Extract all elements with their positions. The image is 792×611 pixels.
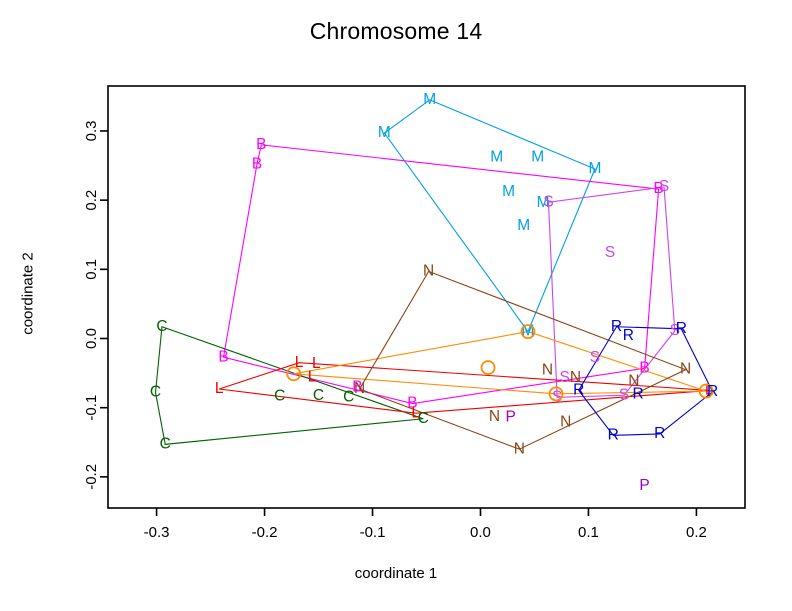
scatter-plot: -0.3-0.2-0.10.00.10.2-0.2-0.10.00.10.20.… (0, 0, 792, 611)
data-point-s: S (590, 349, 600, 366)
data-point-r: R (707, 383, 718, 400)
data-point-l: L (411, 404, 420, 421)
y-tick-label: -0.2 (83, 464, 100, 490)
data-point-n: N (423, 262, 434, 279)
x-tick-label: -0.1 (360, 524, 386, 541)
data-point-m: M (517, 217, 530, 234)
data-point-r: R (654, 425, 665, 442)
y-tick-label: 0.0 (83, 328, 100, 349)
data-point-m: M (531, 148, 544, 165)
chart-page: Chromosome 14 -0.3-0.2-0.10.00.10.2-0.2-… (0, 0, 792, 611)
x-tick-label: -0.3 (144, 524, 170, 541)
data-point-b: B (218, 348, 228, 365)
data-point-c: C (313, 387, 324, 404)
data-point-n: N (514, 440, 525, 457)
hull-m (384, 100, 595, 332)
data-point-b: B (639, 359, 649, 376)
data-point-m: M (423, 91, 436, 108)
hull-c (156, 327, 424, 445)
x-axis-label: coordinate 1 (0, 565, 792, 582)
data-point-b: B (256, 136, 266, 153)
data-point-l: L (215, 380, 224, 397)
data-point-r: R (633, 386, 644, 403)
data-point-m: M (588, 160, 601, 177)
data-point-n: N (489, 408, 500, 425)
data-point-c: C (160, 435, 171, 452)
data-point-r: R (611, 318, 622, 335)
hull-r (579, 327, 713, 436)
data-point-c: C (150, 384, 161, 401)
data-point-p: P (639, 477, 649, 494)
data-point-r: R (623, 327, 634, 344)
data-point-p: P (506, 408, 516, 425)
x-tick-label: 0.0 (470, 524, 491, 541)
y-axis-label: coordinate 2 (20, 204, 37, 384)
y-tick-label: 0.1 (83, 259, 100, 280)
data-point-s: S (560, 369, 570, 386)
data-point-b: B (252, 155, 262, 172)
data-point-m: M (378, 124, 391, 141)
data-point-r: R (573, 381, 584, 398)
data-point-n: N (560, 413, 571, 430)
data-point-o (482, 361, 495, 374)
data-point-n: N (680, 361, 691, 378)
x-tick-label: 0.2 (686, 524, 707, 541)
data-point-s: S (543, 193, 553, 210)
data-point-l: L (308, 368, 317, 385)
data-point-c: C (274, 388, 285, 405)
hull-n (360, 271, 686, 449)
y-tick-label: 0.3 (83, 121, 100, 142)
x-tick-label: 0.1 (578, 524, 599, 541)
data-point-c: C (156, 318, 167, 335)
y-tick-label: -0.1 (83, 395, 100, 421)
data-point-n: N (354, 380, 365, 397)
data-point-s: S (659, 178, 669, 195)
data-point-m: M (490, 148, 503, 165)
data-point-s: S (605, 244, 615, 261)
plot-axes: -0.3-0.2-0.10.00.10.2-0.2-0.10.00.10.20.… (83, 86, 745, 541)
x-tick-label: -0.2 (252, 524, 278, 541)
data-point-m: M (502, 183, 515, 200)
plot-frame (108, 86, 745, 508)
data-point-n: N (542, 361, 553, 378)
data-point-r: R (676, 320, 687, 337)
data-point-c: C (343, 388, 354, 405)
y-tick-label: 0.2 (83, 190, 100, 211)
data-point-r: R (608, 426, 619, 443)
